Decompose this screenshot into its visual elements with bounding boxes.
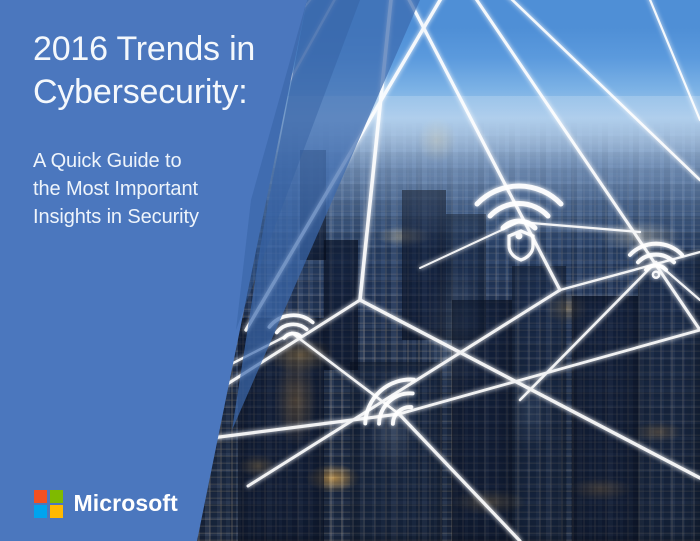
subtitle-line-1: A Quick Guide to <box>33 150 181 172</box>
red-square <box>34 490 47 503</box>
title-line-1: 2016 Trends in <box>33 30 255 68</box>
blue-square <box>34 505 47 518</box>
wifi-signal-icon <box>356 369 427 437</box>
report-cover-page: 2016 Trends inCybersecurity: A Quick Gui… <box>0 0 700 541</box>
microsoft-wordmark: Microsoft <box>74 492 178 515</box>
page-title: 2016 Trends inCybersecurity: <box>33 28 283 114</box>
yellow-square <box>50 505 63 518</box>
microsoft-logo: Microsoft <box>34 490 178 519</box>
cover-text-block: 2016 Trends inCybersecurity: A Quick Gui… <box>33 28 283 231</box>
subtitle-line-2: the Most Important <box>33 178 198 200</box>
green-square <box>50 490 63 503</box>
title-line-2: Cybersecurity: <box>33 73 247 111</box>
subtitle-line-3: Insights in Security <box>33 206 199 228</box>
microsoft-logo-icon <box>34 490 63 519</box>
wifi-signal-icon <box>268 313 314 339</box>
page-subtitle: A Quick Guide tothe Most ImportantInsigh… <box>33 114 283 231</box>
